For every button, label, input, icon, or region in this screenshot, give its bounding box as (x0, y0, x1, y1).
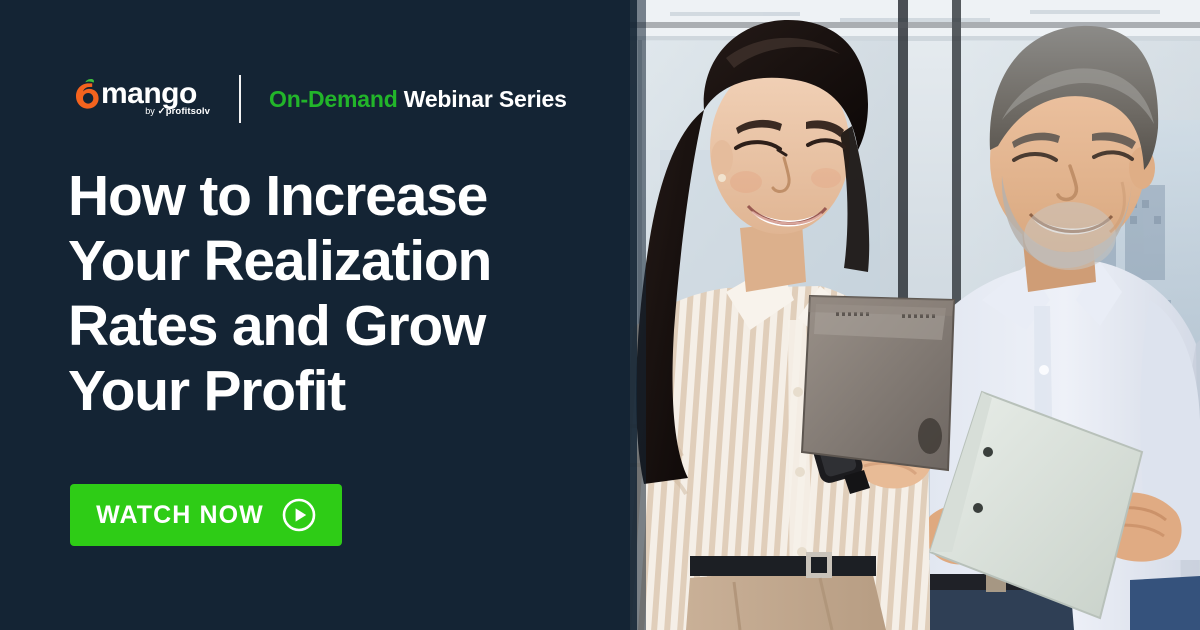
webinar-promo-banner: mango by ✓profitsolv On-Demand Webinar S… (0, 0, 1200, 630)
series-accent-text: On-Demand (269, 86, 398, 112)
check-icon: ✓ (158, 106, 166, 117)
page-title: How to Increase Your Realization Rates a… (68, 164, 588, 424)
tablet (802, 296, 954, 470)
mango-logo[interactable]: mango by ✓profitsolv (70, 74, 210, 124)
brand-header: mango by ✓profitsolv On-Demand Webinar S… (70, 74, 567, 124)
byline-prefix: by (145, 106, 155, 116)
watch-now-button[interactable]: WATCH NOW (70, 484, 342, 546)
mango-byline: by ✓profitsolv (145, 106, 210, 117)
play-circle-icon (282, 498, 316, 532)
byline-name: profitsolv (166, 106, 210, 117)
mango-fruit-icon (70, 78, 100, 110)
brand-divider (239, 75, 241, 123)
series-rest-text: Webinar Series (398, 86, 567, 112)
hero-photo-illustration (630, 0, 1200, 630)
content-panel: mango by ✓profitsolv On-Demand Webinar S… (0, 0, 630, 630)
hero-photo (630, 0, 1200, 630)
series-label: On-Demand Webinar Series (269, 86, 567, 113)
watch-now-label: WATCH NOW (96, 503, 264, 528)
